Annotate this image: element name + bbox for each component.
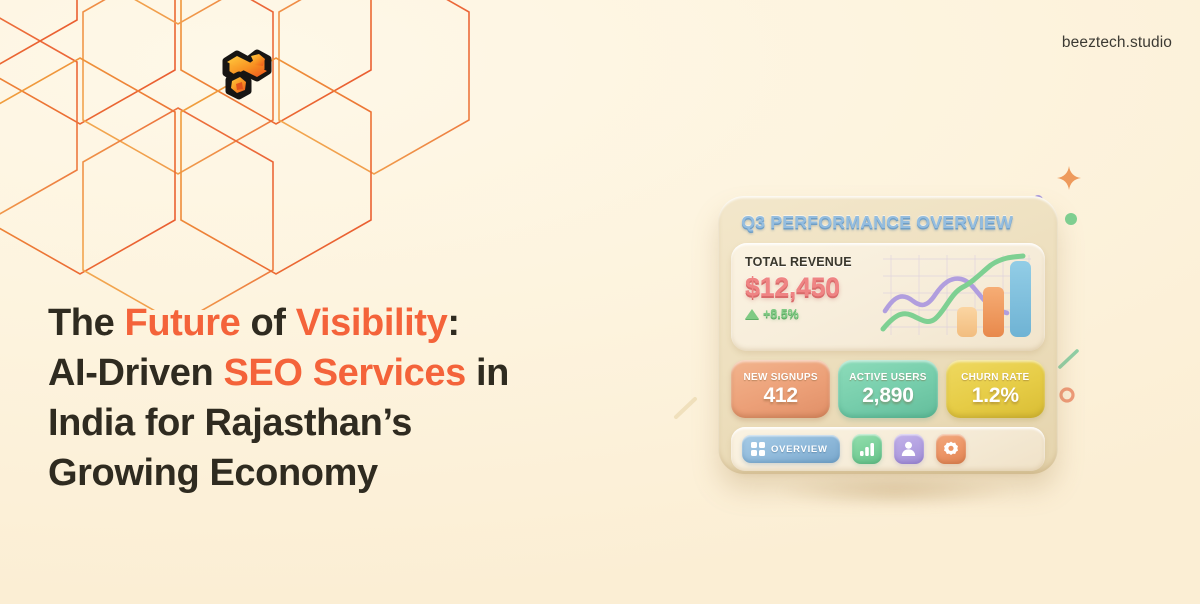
stat-value: 1.2% (972, 384, 1019, 408)
toolbar-button-user[interactable] (894, 434, 924, 464)
stat-card-new-signups[interactable]: NEW SIGNUPS 412 (731, 360, 830, 418)
revenue-value: $12,450 (745, 272, 852, 303)
ring-orange-icon (1058, 386, 1076, 404)
stat-card-row: NEW SIGNUPS 412 ACTIVE USERS 2,890 CHURN… (731, 360, 1045, 418)
headline-accent-visibility: Visibility (296, 302, 448, 344)
stat-label: ACTIVE USERS (849, 372, 927, 383)
gear-icon (943, 441, 959, 457)
poster-canvas: beeztech.studio The Future of Visibility… (0, 0, 1200, 604)
revenue-mini-chart (879, 249, 1039, 345)
dash-green-icon (1056, 346, 1082, 372)
stat-card-churn-rate[interactable]: CHURN RATE 1.2% (946, 360, 1045, 418)
stat-label: CHURN RATE (961, 372, 1029, 383)
toolbar-tab-overview-label: OVERVIEW (771, 444, 828, 455)
bee-hexagon-logo (213, 44, 277, 106)
stat-card-active-users[interactable]: ACTIVE USERS 2,890 (838, 360, 937, 418)
headline-accent-seo-services: SEO Services (223, 352, 465, 394)
headline-seg-colon: : (447, 302, 459, 344)
stat-value: 412 (763, 384, 797, 408)
headline-seg-the: The (48, 302, 125, 344)
revenue-delta-label: +8.5% (763, 307, 799, 321)
headline-accent-future: Future (125, 302, 241, 344)
toolbar-button-chart[interactable] (852, 434, 882, 464)
dash-cream-icon (672, 394, 700, 422)
revenue-panel: TOTAL REVENUE $12,450 +8.5% (731, 243, 1045, 351)
stat-value: 2,890 (862, 384, 914, 408)
brand-name: beeztech.studio (1062, 34, 1172, 52)
headline-seg-of: of (240, 302, 295, 344)
bar-chart-icon (859, 442, 875, 457)
headline-line-4: Growing Economy (48, 452, 378, 494)
revenue-delta: +8.5% (745, 307, 852, 321)
revenue-label: TOTAL REVENUE (745, 255, 852, 269)
headline-seg-ai-driven: AI-Driven (48, 352, 223, 394)
dashboard-illustration: Q3 PERFORMANCE OVERVIEW TOTAL REVENUE $1… (650, 150, 1190, 510)
sparkle-icon (1056, 165, 1082, 191)
stat-label: NEW SIGNUPS (743, 372, 817, 383)
toolbar-tab-overview[interactable]: OVERVIEW (742, 435, 840, 463)
user-icon (901, 441, 916, 457)
dot-green-icon (1064, 212, 1078, 226)
toolbar-button-settings[interactable] (936, 434, 966, 464)
grid-icon (751, 442, 765, 456)
headline-seg-in: in (466, 352, 509, 394)
dashboard-title: Q3 PERFORMANCE OVERVIEW (731, 210, 1051, 233)
dashboard-shadow (730, 468, 1060, 514)
triangle-up-icon (745, 309, 759, 319)
dashboard-card: Q3 PERFORMANCE OVERVIEW TOTAL REVENUE $1… (718, 196, 1058, 474)
page-title: The Future of Visibility: AI-Driven SEO … (48, 298, 608, 498)
revenue-text-group: TOTAL REVENUE $12,450 +8.5% (745, 255, 852, 321)
dashboard-toolbar: OVERVIEW (731, 427, 1045, 471)
headline-line-3: India for Rajasthan’s (48, 402, 412, 444)
